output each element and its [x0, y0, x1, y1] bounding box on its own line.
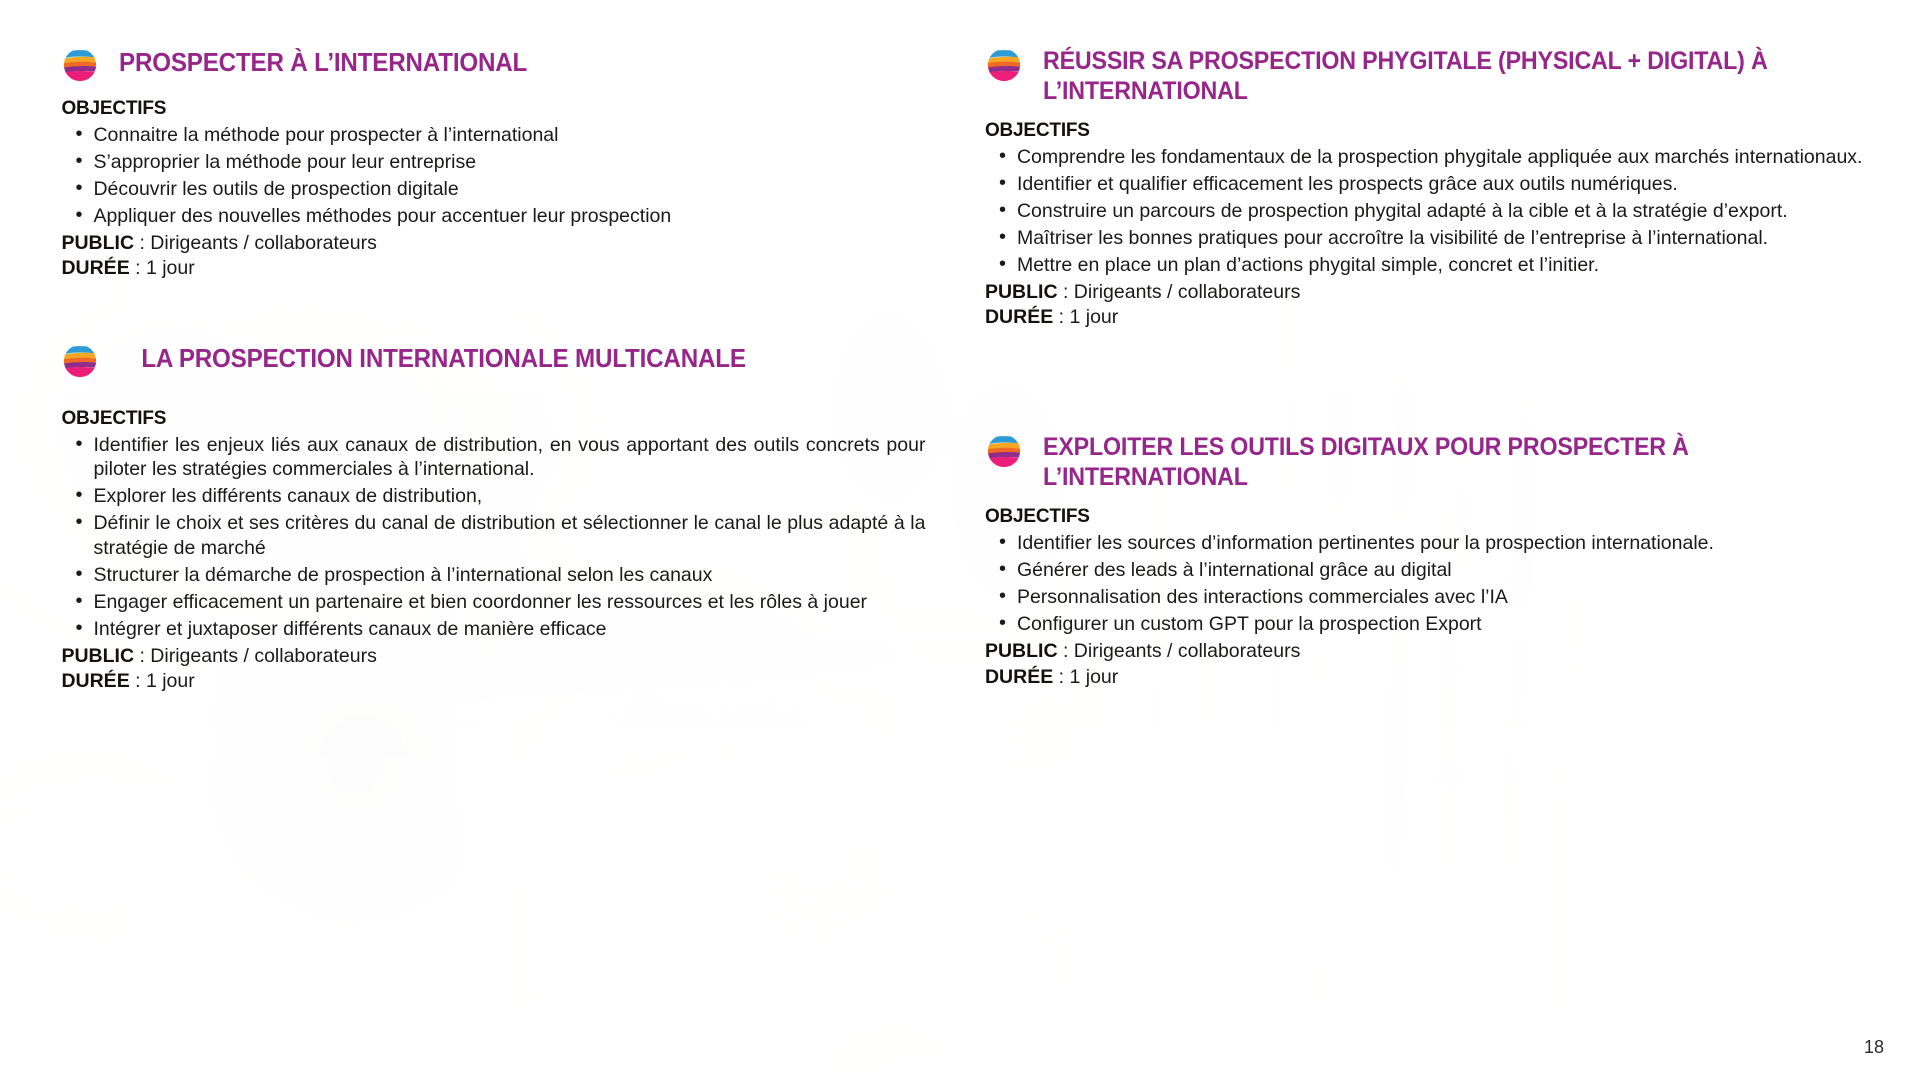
list-item: Configurer un custom GPT pour la prospec… — [985, 612, 1887, 637]
program-card: LA PROSPECTION INTERNATIONALE MULTICANAL… — [61, 340, 925, 695]
page-number: 18 — [1864, 1037, 1884, 1058]
list-item: Engager efficacement un partenaire et bi… — [61, 590, 925, 615]
right-column: RÉUSSIR SA PROSPECTION PHYGITALE (PHYSIC… — [985, 0, 1887, 724]
list-item: S’approprier la méthode pour leur entrep… — [61, 150, 925, 175]
slide-content: PROSPECTER À L’INTERNATIONAL OBJECTIFS C… — [0, 0, 1920, 1080]
list-item: Personnalisation des interactions commer… — [985, 585, 1887, 610]
objectives-list: Comprendre les fondamentaux de la prospe… — [985, 145, 1887, 278]
public-value: : Dirigeants / collaborateurs — [1063, 640, 1300, 662]
globe-stripes-logo-icon — [61, 342, 99, 380]
list-item: Définir le choix et ses critères du cana… — [61, 511, 925, 561]
list-item: Connaitre la méthode pour prospecter à l… — [61, 123, 925, 148]
objectives-label: OBJECTIFS — [61, 98, 925, 120]
list-item: Appliquer des nouvelles méthodes pour ac… — [61, 204, 925, 229]
program-header: EXPLOITER LES OUTILS DIGITAUX POUR PROSP… — [985, 430, 1887, 492]
globe-stripes-logo-icon — [985, 432, 1023, 470]
program-title: LA PROSPECTION INTERNATIONALE MULTICANAL… — [119, 340, 746, 374]
list-item: Explorer les différents canaux de distri… — [61, 484, 925, 509]
list-item: Comprendre les fondamentaux de la prospe… — [985, 145, 1887, 170]
public-line: PUBLIC : Dirigeants / collaborateurs — [985, 639, 1887, 664]
program-title: PROSPECTER À L’INTERNATIONAL — [119, 44, 527, 78]
duration-label: DURÉE — [61, 670, 129, 692]
public-label: PUBLIC — [985, 640, 1058, 662]
list-item: Mettre en place un plan d’actions phygit… — [985, 253, 1887, 278]
duration-value: : 1 jour — [1059, 666, 1119, 688]
public-line: PUBLIC : Dirigeants / collaborateurs — [61, 231, 925, 256]
objectives-label: OBJECTIFS — [985, 506, 1887, 528]
program-card: RÉUSSIR SA PROSPECTION PHYGITALE (PHYSIC… — [985, 44, 1887, 330]
public-value: : Dirigeants / collaborateurs — [139, 645, 376, 667]
list-item: Construire un parcours de prospection ph… — [985, 199, 1887, 224]
program-title: EXPLOITER LES OUTILS DIGITAUX POUR PROSP… — [1043, 430, 1828, 492]
duration-label: DURÉE — [985, 666, 1053, 688]
duration-value: : 1 jour — [135, 670, 195, 692]
globe-stripes-logo-icon — [61, 46, 99, 84]
program-title: RÉUSSIR SA PROSPECTION PHYGITALE (PHYSIC… — [1043, 44, 1828, 106]
objectives-label: OBJECTIFS — [985, 120, 1887, 142]
left-column: PROSPECTER À L’INTERNATIONAL OBJECTIFS C… — [61, 0, 925, 729]
list-item: Identifier et qualifier efficacement les… — [985, 172, 1887, 197]
list-item: Identifier les enjeux liés aux canaux de… — [61, 433, 925, 483]
duration-line: DURÉE : 1 jour — [61, 669, 925, 694]
list-item: Intégrer et juxtaposer différents canaux… — [61, 617, 925, 642]
list-item: Maîtriser les bonnes pratiques pour accr… — [985, 226, 1887, 251]
objectives-label: OBJECTIFS — [61, 408, 925, 430]
objectives-list: Identifier les enjeux liés aux canaux de… — [61, 433, 925, 643]
public-label: PUBLIC — [61, 232, 134, 254]
duration-value: : 1 jour — [1059, 306, 1119, 328]
list-item: Découvrir les outils de prospection digi… — [61, 177, 925, 202]
program-header: LA PROSPECTION INTERNATIONALE MULTICANAL… — [61, 340, 925, 380]
program-header: PROSPECTER À L’INTERNATIONAL — [61, 44, 925, 84]
duration-line: DURÉE : 1 jour — [985, 665, 1887, 690]
duration-line: DURÉE : 1 jour — [61, 256, 925, 281]
duration-value: : 1 jour — [135, 257, 195, 279]
public-line: PUBLIC : Dirigeants / collaborateurs — [61, 644, 925, 669]
program-card: PROSPECTER À L’INTERNATIONAL OBJECTIFS C… — [61, 44, 925, 282]
list-item: Identifier les sources d’information per… — [985, 531, 1887, 556]
program-header: RÉUSSIR SA PROSPECTION PHYGITALE (PHYSIC… — [985, 44, 1887, 106]
list-item: Structurer la démarche de prospection à … — [61, 563, 925, 588]
public-label: PUBLIC — [61, 645, 134, 667]
list-item: Générer des leads à l’international grâc… — [985, 558, 1887, 583]
objectives-list: Connaitre la méthode pour prospecter à l… — [61, 123, 925, 229]
objectives-list: Identifier les sources d’information per… — [985, 531, 1887, 637]
duration-label: DURÉE — [61, 257, 129, 279]
program-card: EXPLOITER LES OUTILS DIGITAUX POUR PROSP… — [985, 430, 1887, 690]
duration-line: DURÉE : 1 jour — [985, 305, 1887, 330]
public-line: PUBLIC : Dirigeants / collaborateurs — [985, 280, 1887, 305]
globe-stripes-logo-icon — [985, 46, 1023, 84]
public-value: : Dirigeants / collaborateurs — [1063, 281, 1300, 303]
public-label: PUBLIC — [985, 281, 1058, 303]
duration-label: DURÉE — [985, 306, 1053, 328]
public-value: : Dirigeants / collaborateurs — [139, 232, 376, 254]
